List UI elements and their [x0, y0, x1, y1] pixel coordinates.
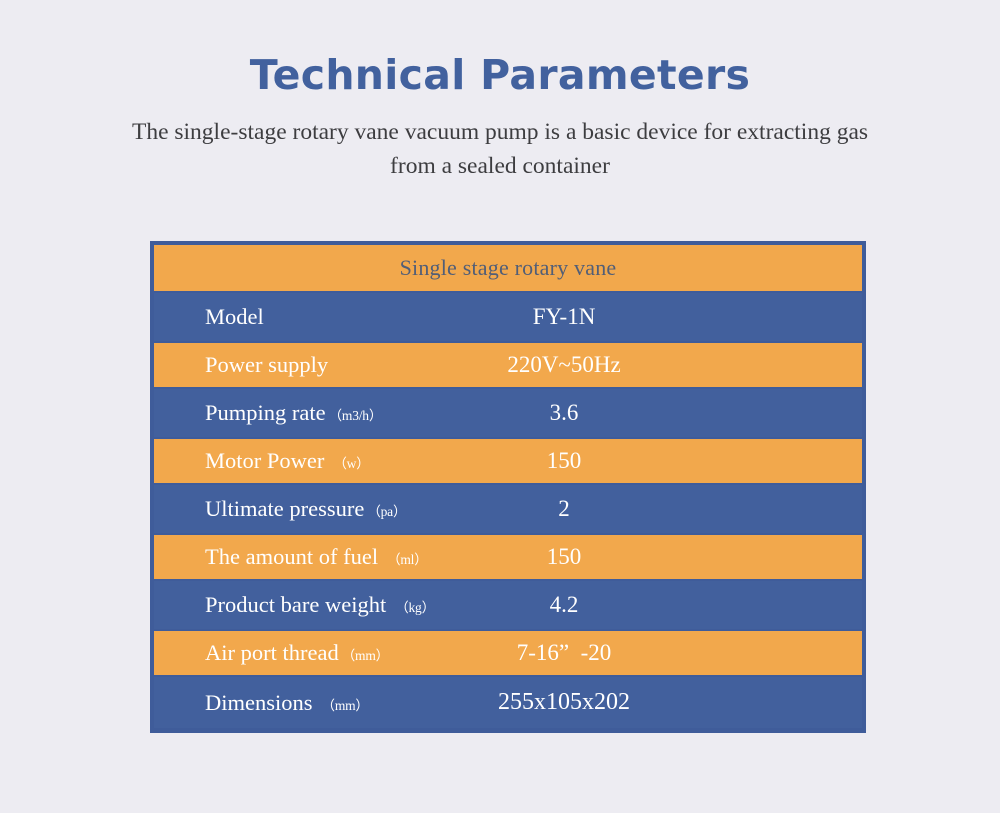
spec-unit: （m3/h） — [329, 404, 383, 424]
spec-value: 3.6 — [454, 400, 674, 426]
table-row: Dimensions（mm）255x105x202 — [150, 677, 866, 733]
spec-label-text: Motor Power — [205, 448, 324, 474]
table-row: Product bare weight（kg）4.2 — [150, 581, 866, 629]
table-row: Motor Power（w）150 — [150, 437, 866, 485]
spec-label: Ultimate pressure（pa） — [205, 496, 406, 522]
spec-value: 150 — [454, 544, 674, 570]
spec-value: 220V~50Hz — [454, 352, 674, 378]
spec-value: 150 — [454, 448, 674, 474]
table-header-row: Single stage rotary vane — [150, 241, 866, 293]
spec-label: Model — [205, 304, 264, 330]
table-header-label: Single stage rotary vane — [400, 255, 617, 281]
spec-label-text: Ultimate pressure — [205, 496, 364, 522]
spec-label-text: Product bare weight — [205, 592, 386, 618]
table-row: ModelFY-1N — [150, 293, 866, 341]
spec-label: Power supply — [205, 352, 328, 378]
spec-unit: （ml） — [387, 548, 427, 568]
spec-label: The amount of fuel（ml） — [205, 544, 428, 570]
table-row: Pumping rate（m3/h）3.6 — [150, 389, 866, 437]
spec-value: 255x105x202 — [454, 689, 674, 716]
spec-label-text: Dimensions — [205, 690, 313, 716]
spec-label: Motor Power（w） — [205, 448, 370, 474]
spec-value: 4.2 — [454, 592, 674, 618]
heading-block: Technical Parameters The single-stage ro… — [0, 0, 1000, 183]
spec-unit: （mm） — [322, 694, 369, 714]
table-row: Air port thread（mm）7-16” -20 — [150, 629, 866, 677]
spec-label-text: Power supply — [205, 352, 328, 378]
page-subtitle: The single-stage rotary vane vacuum pump… — [115, 99, 885, 183]
page-title: Technical Parameters — [0, 0, 1000, 99]
spec-unit: （pa） — [367, 500, 406, 520]
spec-unit: （kg） — [395, 596, 435, 616]
spec-label: Pumping rate（m3/h） — [205, 400, 382, 426]
spec-label: Product bare weight（kg） — [205, 592, 435, 618]
spec-label: Dimensions（mm） — [205, 690, 369, 716]
table-row: Power supply220V~50Hz — [150, 341, 866, 389]
spec-label: Air port thread（mm） — [205, 640, 389, 666]
spec-unit: （mm） — [342, 644, 389, 664]
spec-label-text: Pumping rate — [205, 400, 326, 426]
spec-label-text: The amount of fuel — [205, 544, 378, 570]
table-row: The amount of fuel（ml）150 — [150, 533, 866, 581]
spec-value: 2 — [454, 496, 674, 522]
technical-parameters-table: Single stage rotary vane ModelFY-1NPower… — [150, 241, 866, 733]
table-row: Ultimate pressure（pa）2 — [150, 485, 866, 533]
spec-label-text: Air port thread — [205, 640, 339, 666]
spec-value: FY-1N — [454, 304, 674, 330]
technical-parameters-page: Technical Parameters The single-stage ro… — [0, 0, 1000, 813]
spec-label-text: Model — [205, 304, 264, 330]
spec-value: 7-16” -20 — [454, 640, 674, 666]
spec-unit: （w） — [333, 452, 369, 472]
